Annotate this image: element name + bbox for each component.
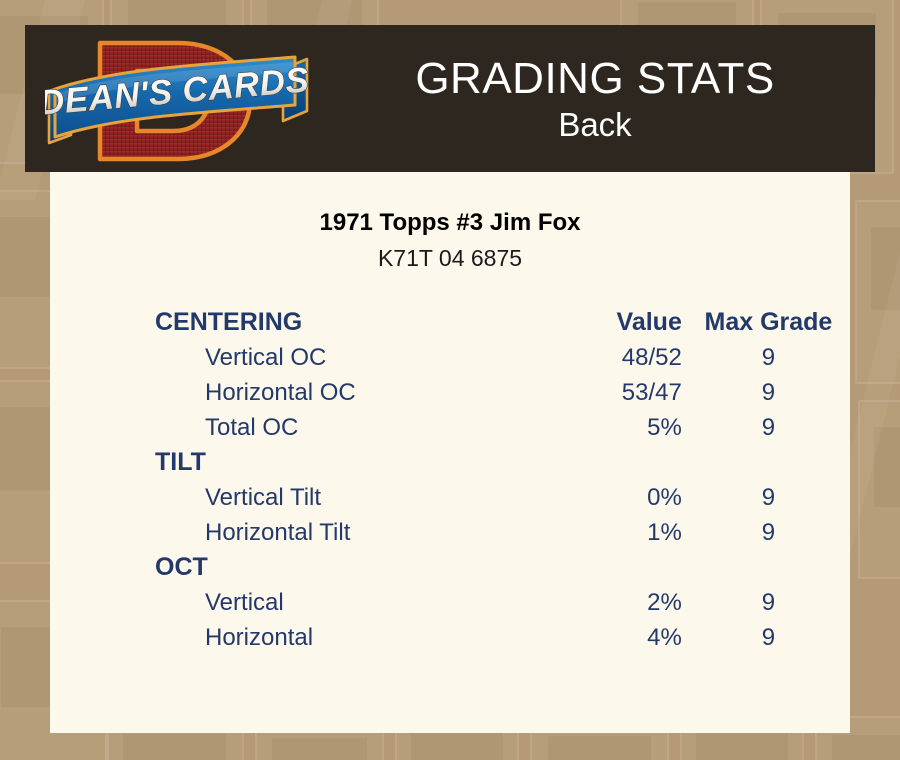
column-header-value: Value bbox=[492, 305, 687, 340]
grading-stats-table: CENTERING Value Max Grade Vertical OC 48… bbox=[50, 305, 850, 655]
logo-graphic: DEAN'S CARDS bbox=[45, 31, 310, 171]
column-header-max-grade: Max Grade bbox=[687, 305, 850, 340]
table-row: Horizontal Tilt 1% 9 bbox=[50, 515, 850, 550]
row-max-grade: 9 bbox=[687, 375, 850, 410]
table-header-row: CENTERING Value Max Grade bbox=[50, 305, 850, 340]
row-max-grade: 9 bbox=[687, 620, 850, 655]
row-value: 2% bbox=[492, 585, 687, 620]
deans-cards-logo[interactable]: DEAN'S CARDS bbox=[45, 31, 310, 171]
row-label: Vertical OC bbox=[50, 340, 492, 375]
row-max-grade: 9 bbox=[687, 515, 850, 550]
section-header-oct-row: OCT bbox=[50, 550, 850, 585]
section-header-tilt: TILT bbox=[50, 445, 492, 480]
grading-stats-page: DEAN'S CARDS GRADING STATS Back 1971 Top… bbox=[0, 0, 900, 760]
row-label: Horizontal bbox=[50, 620, 492, 655]
card-title: 1971 Topps #3 Jim Fox bbox=[50, 208, 850, 238]
row-max-grade: 9 bbox=[687, 410, 850, 445]
section-header-oct: OCT bbox=[50, 550, 492, 585]
section-spacer bbox=[687, 550, 850, 585]
row-value: 0% bbox=[492, 480, 687, 515]
section-header-tilt-row: TILT bbox=[50, 445, 850, 480]
row-label: Vertical bbox=[50, 585, 492, 620]
page-subtitle: Back bbox=[558, 105, 631, 145]
row-value: 1% bbox=[492, 515, 687, 550]
table-row: Horizontal 4% 9 bbox=[50, 620, 850, 655]
section-spacer bbox=[687, 445, 850, 480]
content-panel: 1971 Topps #3 Jim Fox K71T 04 6875 CENTE… bbox=[50, 172, 850, 733]
section-spacer bbox=[492, 445, 687, 480]
section-header-centering: CENTERING bbox=[50, 305, 492, 340]
row-max-grade: 9 bbox=[687, 585, 850, 620]
stats-table-body: CENTERING Value Max Grade Vertical OC 48… bbox=[50, 305, 850, 655]
row-value: 53/47 bbox=[492, 375, 687, 410]
page-title: GRADING STATS bbox=[415, 53, 774, 105]
row-label: Horizontal OC bbox=[50, 375, 492, 410]
section-spacer bbox=[492, 550, 687, 585]
row-label: Total OC bbox=[50, 410, 492, 445]
row-max-grade: 9 bbox=[687, 340, 850, 375]
table-row: Vertical 2% 9 bbox=[50, 585, 850, 620]
page-header: DEAN'S CARDS GRADING STATS Back bbox=[25, 25, 875, 172]
row-value: 5% bbox=[492, 410, 687, 445]
table-row: Total OC 5% 9 bbox=[50, 410, 850, 445]
row-max-grade: 9 bbox=[687, 480, 850, 515]
table-row: Vertical Tilt 0% 9 bbox=[50, 480, 850, 515]
row-value: 48/52 bbox=[492, 340, 687, 375]
row-value: 4% bbox=[492, 620, 687, 655]
card-serial-number: K71T 04 6875 bbox=[50, 243, 850, 273]
row-label: Horizontal Tilt bbox=[50, 515, 492, 550]
row-label: Vertical Tilt bbox=[50, 480, 492, 515]
table-row: Vertical OC 48/52 9 bbox=[50, 340, 850, 375]
table-row: Horizontal OC 53/47 9 bbox=[50, 375, 850, 410]
